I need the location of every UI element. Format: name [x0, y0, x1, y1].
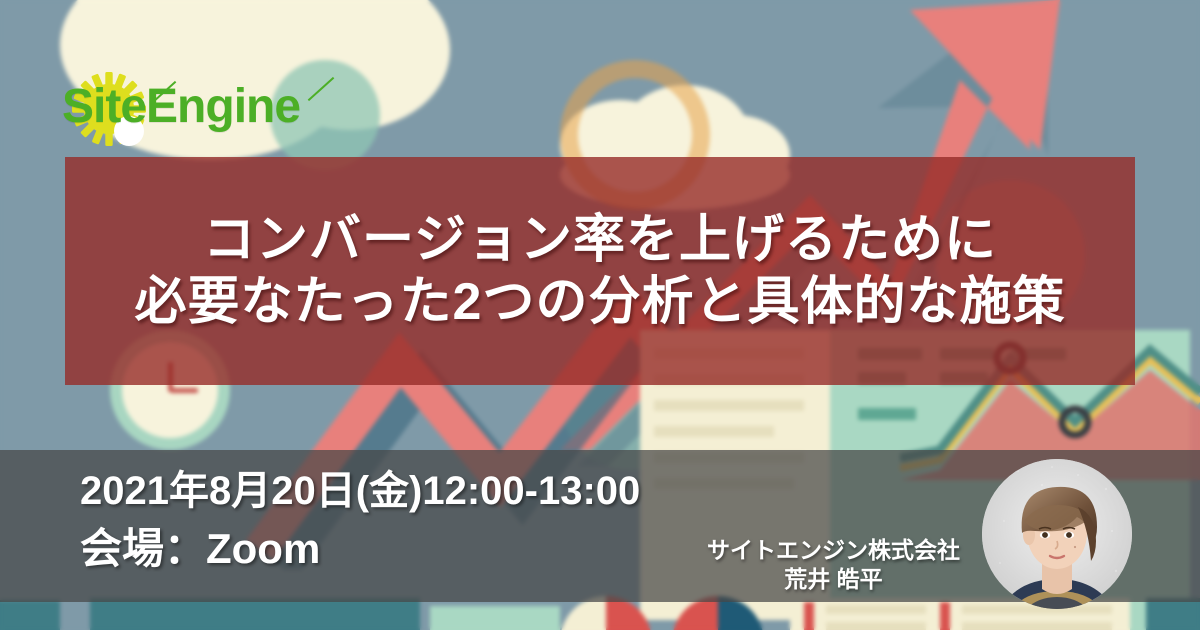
event-datetime: 2021年8月20日(金)12:00-13:00: [80, 468, 640, 515]
webinar-banner: SiteEngine コンバージョン率を上げるために 必要なたった2つの分析と具…: [0, 0, 1200, 630]
title-line-1: コンバージョン率を上げるために: [203, 212, 997, 268]
speaker-company: サイトエンジン株式会社: [707, 536, 960, 565]
siteengine-logo[interactable]: SiteEngine: [62, 76, 300, 138]
speaker-avatar: [982, 459, 1132, 609]
logo-wordmark: SiteEngine: [62, 83, 300, 131]
title-banner: コンバージョン率を上げるために 必要なたった2つの分析と具体的な施策: [65, 157, 1135, 385]
speaker-info: サイトエンジン株式会社 荒井 皓平: [707, 536, 960, 594]
speaker-name: 荒井 皓平: [707, 565, 960, 594]
title-line-2: 必要なたった2つの分析と具体的な施策: [135, 274, 1066, 330]
event-venue: 会場：Zoom: [80, 524, 320, 574]
